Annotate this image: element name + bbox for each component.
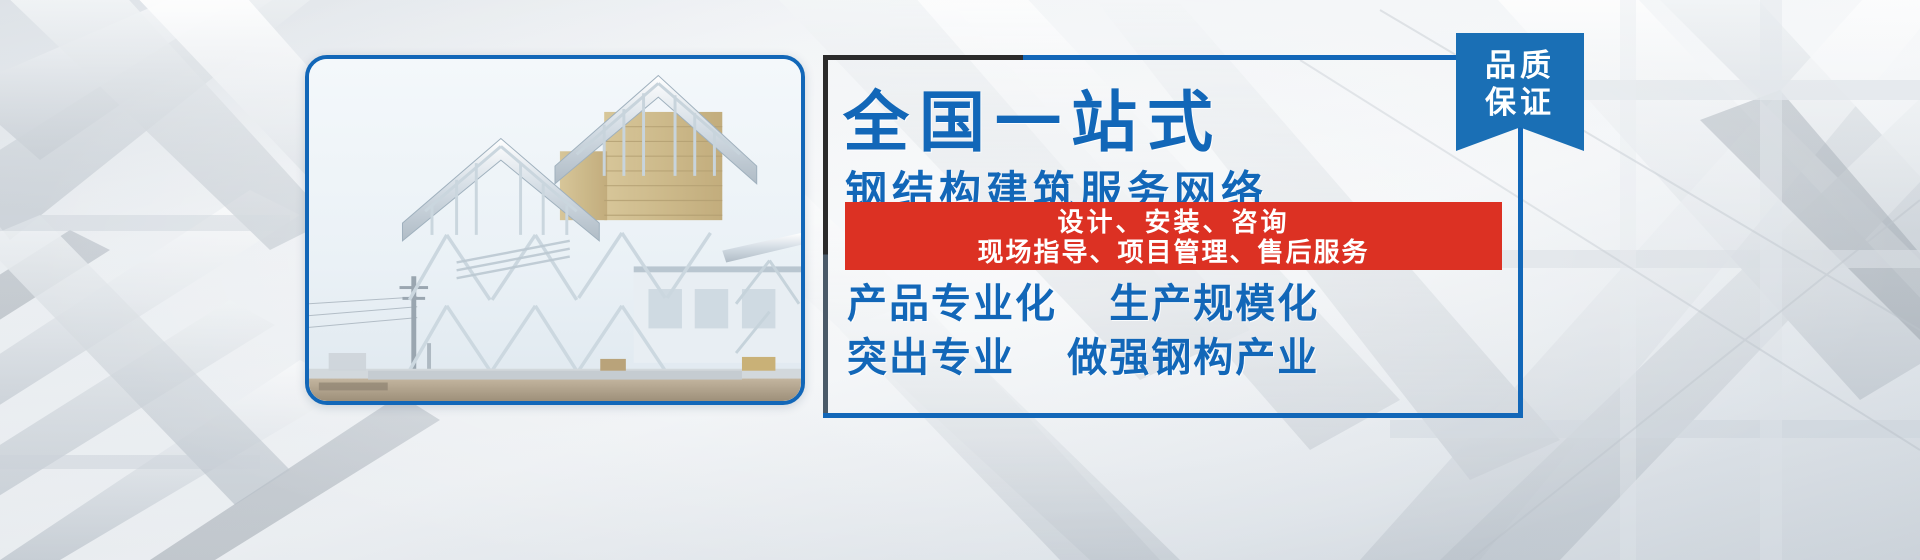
headline-title: 全国一站式 (843, 89, 1403, 155)
services-line-1: 设计、安装、咨询 (1057, 208, 1289, 237)
ribbon-label-line-2: 保证 (1456, 84, 1584, 121)
slogan-1-right: 生产规模化 (1109, 282, 1319, 326)
slogan-line-2: 突出专业 做强钢构产业 (847, 337, 1319, 379)
quality-guarantee-ribbon-badge: 品质 保证 (1456, 33, 1584, 151)
ribbon-label: 品质 保证 (1456, 47, 1584, 121)
promotional-banner: 全国一站式 钢结构建筑服务网络 设计、安装、咨询 现场指导、项目管理、售后服务 … (0, 0, 1920, 560)
slogan-2-left: 突出专业 (847, 336, 1015, 380)
slogan-line-1: 产品专业化 生产规模化 (847, 283, 1319, 325)
ribbon-tail-connector (1518, 145, 1522, 183)
slogan-2-right: 做强钢构产业 (1067, 336, 1319, 380)
panel-border-left (823, 55, 828, 418)
slogan-1-left: 产品专业化 (847, 282, 1057, 326)
ribbon-label-line-1: 品质 (1456, 47, 1584, 84)
construction-photo-card (305, 55, 805, 405)
services-red-strip: 设计、安装、咨询 现场指导、项目管理、售后服务 (845, 202, 1502, 270)
services-line-2: 现场指导、项目管理、售后服务 (977, 237, 1369, 267)
headline-text-panel: 全国一站式 钢结构建筑服务网络 设计、安装、咨询 现场指导、项目管理、售后服务 … (823, 55, 1523, 418)
construction-photo-image (309, 59, 801, 401)
panel-border-bottom (823, 413, 1523, 418)
panel-border-top (823, 55, 1523, 60)
